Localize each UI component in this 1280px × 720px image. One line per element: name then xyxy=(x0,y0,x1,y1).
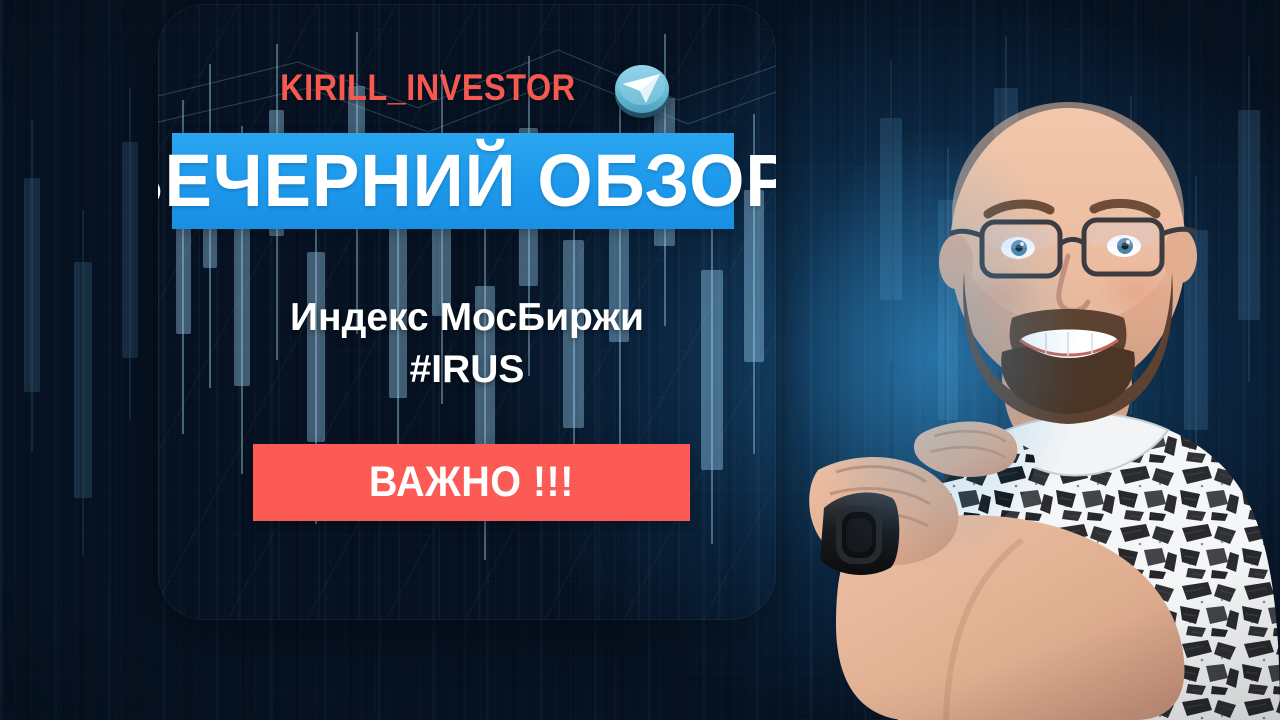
vignette xyxy=(0,0,1280,720)
thumbnail-canvas: KIRILL_INVESTOR xyxy=(0,0,1280,720)
